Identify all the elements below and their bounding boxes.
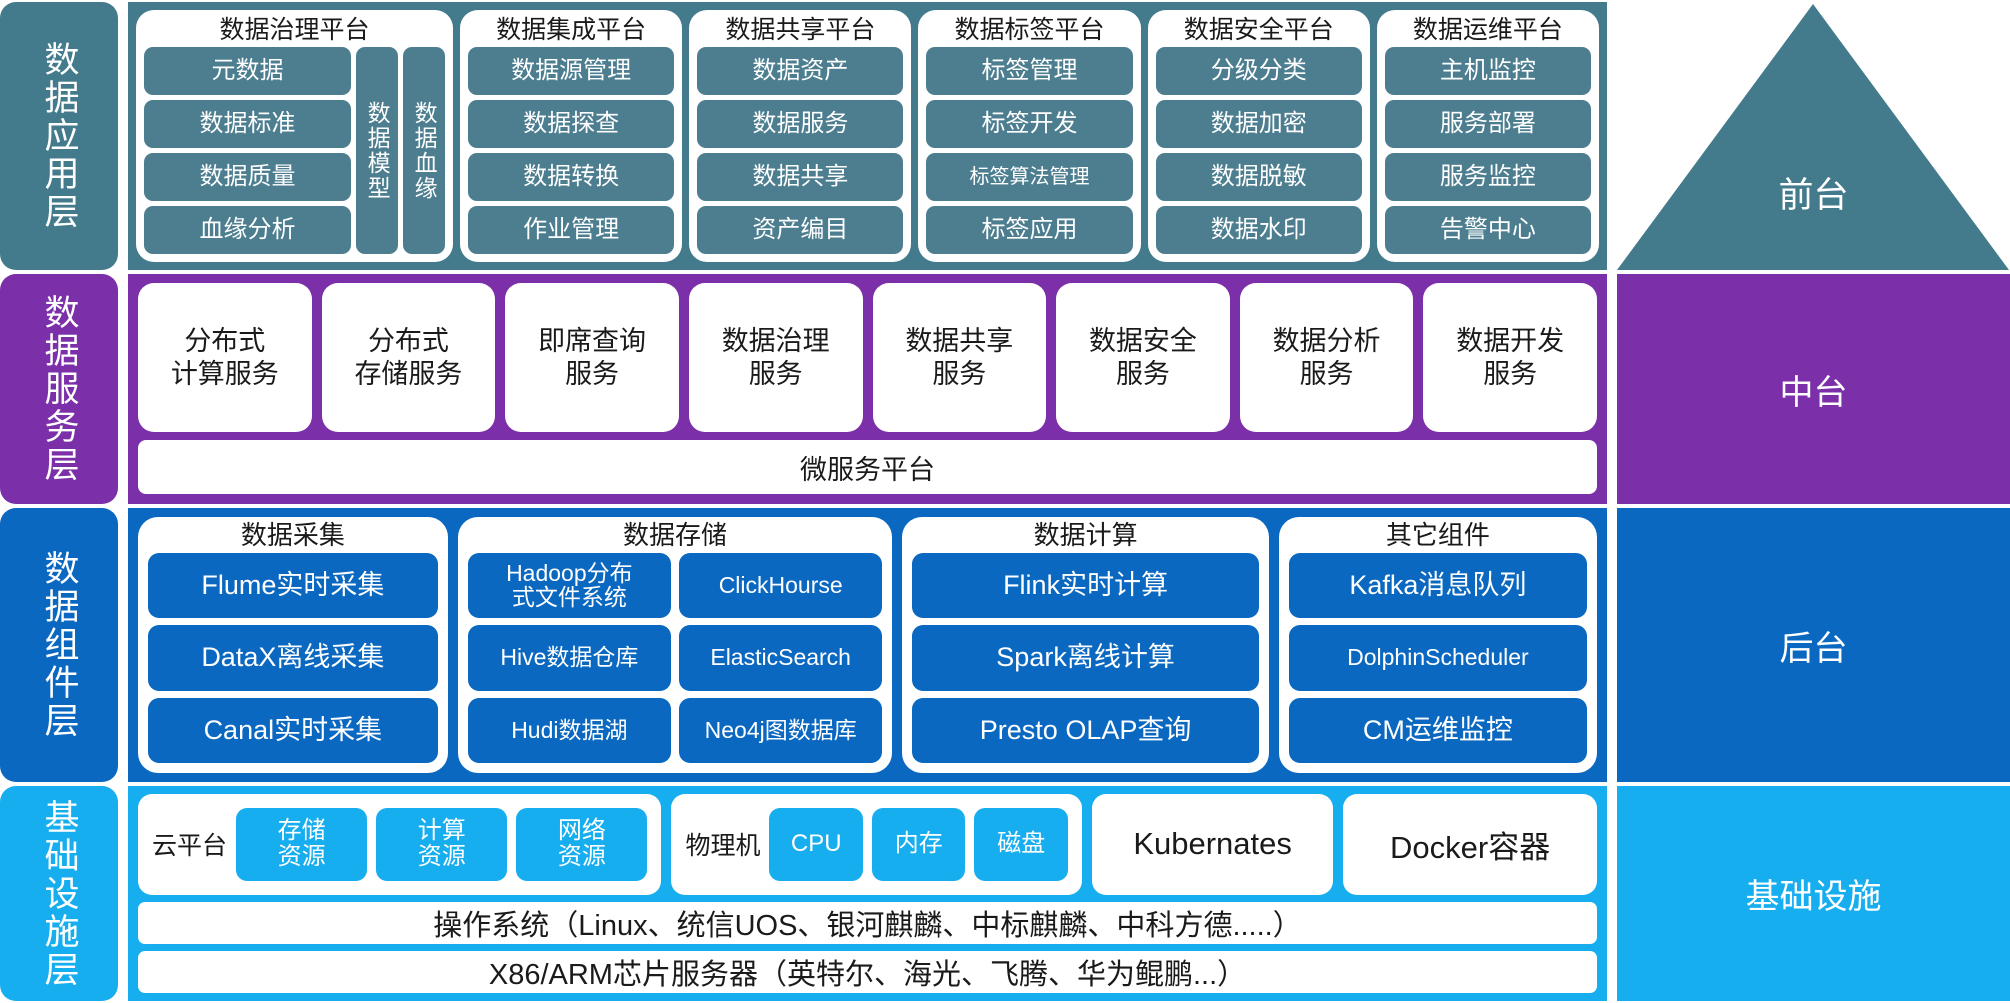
service-card[interactable]: 数据安全 服务 — [1056, 283, 1230, 432]
component-grid: Kafka消息队列 DolphinScheduler CM运维监控 — [1289, 553, 1587, 763]
component-item[interactable]: ElasticSearch — [679, 625, 882, 690]
platform-item[interactable]: 标签开发 — [926, 100, 1132, 148]
tier-label-back: 后台 — [1780, 621, 1848, 670]
physical-resource-cpu[interactable]: CPU — [769, 808, 863, 880]
component-item[interactable]: Flume实时采集 — [148, 553, 438, 618]
layer-label-data-component: 数据组件层 — [0, 508, 118, 782]
platform-column-main: 标签管理 标签开发 标签算法管理 标签应用 — [926, 47, 1132, 254]
tier-label-infrastructure: 基础设施 — [1746, 869, 1882, 918]
component-column: Flume实时采集 DataX离线采集 Canal实时采集 — [148, 553, 438, 763]
service-card[interactable]: 即席查询 服务 — [505, 283, 679, 432]
platform-item-vertical[interactable]: 数据模型 — [356, 47, 398, 254]
cloud-resource-compute[interactable]: 计算 资源 — [376, 808, 507, 880]
tier-back-stage: 后台 — [1617, 508, 2010, 782]
service-card[interactable]: 数据共享 服务 — [873, 283, 1047, 432]
platform-columns: 标签管理 标签开发 标签算法管理 标签应用 — [926, 47, 1132, 254]
component-item[interactable]: DolphinScheduler — [1289, 625, 1587, 690]
infrastructure-card-row: 云平台 存储 资源 计算 资源 网络 资源 物理机 CPU 内存 磁盘 Kube… — [138, 794, 1597, 895]
layer-label-data-service: 数据服务层 — [0, 274, 118, 504]
docker-label: Docker容器 — [1390, 822, 1550, 867]
service-card-row: 分布式 计算服务 分布式 存储服务 即席查询 服务 数据治理 服务 数据共享 服… — [138, 283, 1597, 432]
platform-item[interactable]: 数据质量 — [144, 153, 351, 201]
platform-item-vertical[interactable]: 数据血缘 — [403, 47, 445, 254]
platform-item[interactable]: 数据标准 — [144, 100, 351, 148]
cloud-resource-storage[interactable]: 存储 资源 — [236, 808, 367, 880]
platform-item[interactable]: 数据脱敏 — [1156, 153, 1362, 201]
component-item[interactable]: CM运维监控 — [1289, 698, 1587, 763]
platform-item[interactable]: 数据转换 — [468, 153, 674, 201]
platform-columns: 数据源管理 数据探查 数据转换 作业管理 — [468, 47, 674, 254]
platform-column-main: 元数据 数据标准 数据质量 血缘分析 — [144, 47, 351, 254]
microservice-platform-bar[interactable]: 微服务平台 — [138, 440, 1597, 494]
component-column: Flink实时计算 Spark离线计算 Presto OLAP查询 — [912, 553, 1258, 763]
physical-machine-label: 物理机 — [685, 826, 760, 862]
infra-card-kubernetes[interactable]: Kubernates — [1092, 794, 1333, 895]
platform-item[interactable]: 标签应用 — [926, 206, 1132, 254]
component-grid: Flink实时计算 Spark离线计算 Presto OLAP查询 — [912, 553, 1258, 763]
platform-item[interactable]: 作业管理 — [468, 206, 674, 254]
platform-item[interactable]: 数据水印 — [1156, 206, 1362, 254]
platform-item[interactable]: 服务监控 — [1385, 153, 1591, 201]
component-item[interactable]: Spark离线计算 — [912, 625, 1258, 690]
platform-card-data-security[interactable]: 数据安全平台 分级分类 数据加密 数据脱敏 数据水印 — [1148, 10, 1370, 262]
layer-infrastructure: 基础设施层 云平台 存储 资源 计算 资源 网络 资源 物理机 CPU 内存 磁… — [0, 786, 2010, 1001]
platform-title: 数据共享平台 — [697, 16, 903, 44]
layer-data-component: 数据组件层 数据采集 Flume实时采集 DataX离线采集 Canal实时采集… — [0, 508, 2010, 782]
platform-title: 数据治理平台 — [144, 16, 445, 44]
platform-item[interactable]: 数据加密 — [1156, 100, 1362, 148]
physical-resource-disk[interactable]: 磁盘 — [974, 808, 1068, 880]
component-grid: Flume实时采集 DataX离线采集 Canal实时采集 — [148, 553, 438, 763]
platform-title: 数据标签平台 — [926, 16, 1132, 44]
platform-item[interactable]: 资产编目 — [697, 206, 903, 254]
component-item[interactable]: Canal实时采集 — [148, 698, 438, 763]
tier-label-middle: 中台 — [1780, 365, 1848, 414]
platform-item[interactable]: 标签算法管理 — [926, 153, 1132, 201]
platform-card-data-governance[interactable]: 数据治理平台 元数据 数据标准 数据质量 血缘分析 数据模型 数据血缘 — [136, 10, 453, 262]
component-item[interactable]: Kafka消息队列 — [1289, 553, 1587, 618]
component-column: ClickHourse ElasticSearch Neo4j图数据库 — [679, 553, 882, 763]
platform-item[interactable]: 标签管理 — [926, 47, 1132, 95]
platform-column-vertical-1: 数据模型 — [356, 47, 398, 254]
platform-card-data-sharing[interactable]: 数据共享平台 数据资产 数据服务 数据共享 资产编目 — [689, 10, 911, 262]
platform-item[interactable]: 元数据 — [144, 47, 351, 95]
physical-resource-memory[interactable]: 内存 — [872, 808, 966, 880]
platform-columns: 元数据 数据标准 数据质量 血缘分析 数据模型 数据血缘 — [144, 47, 445, 254]
layer-label-data-application: 数据应用层 — [0, 2, 118, 270]
infra-card-physical-machine[interactable]: 物理机 CPU 内存 磁盘 — [671, 794, 1082, 895]
platform-column-main: 数据源管理 数据探查 数据转换 作业管理 — [468, 47, 674, 254]
component-item[interactable]: Hudi数据湖 — [468, 698, 671, 763]
component-group-data-compute[interactable]: 数据计算 Flink实时计算 Spark离线计算 Presto OLAP查询 — [902, 517, 1268, 773]
service-card[interactable]: 数据治理 服务 — [689, 283, 863, 432]
platform-column-main: 分级分类 数据加密 数据脱敏 数据水印 — [1156, 47, 1362, 254]
platform-item[interactable]: 数据资产 — [697, 47, 903, 95]
platform-item[interactable]: 主机监控 — [1385, 47, 1591, 95]
component-group-title: 其它组件 — [1289, 521, 1587, 550]
component-grid: Hadoop分布 式文件系统 Hive数据仓库 Hudi数据湖 ClickHou… — [468, 553, 883, 763]
infra-card-cloud-platform[interactable]: 云平台 存储 资源 计算 资源 网络 资源 — [138, 794, 661, 895]
platform-columns: 主机监控 服务部署 服务监控 告警中心 — [1385, 47, 1591, 254]
platform-column-main: 主机监控 服务部署 服务监控 告警中心 — [1385, 47, 1591, 254]
component-item[interactable]: Hadoop分布 式文件系统 — [468, 553, 671, 618]
platform-title: 数据运维平台 — [1385, 16, 1591, 44]
infra-card-docker[interactable]: Docker容器 — [1343, 794, 1597, 895]
kubernetes-label: Kubernates — [1133, 826, 1292, 862]
pyramid-shape-icon — [1617, 4, 2009, 270]
layer-body-data-component: 数据采集 Flume实时采集 DataX离线采集 Canal实时采集 数据存储 … — [128, 508, 1607, 782]
platform-item[interactable]: 数据共享 — [697, 153, 903, 201]
platform-item[interactable]: 数据探查 — [468, 100, 674, 148]
component-group-title: 数据计算 — [912, 521, 1258, 550]
layer-body-infrastructure: 云平台 存储 资源 计算 资源 网络 资源 物理机 CPU 内存 磁盘 Kube… — [128, 786, 1607, 1001]
tier-label-front: 前台 — [1617, 167, 2010, 218]
service-card[interactable]: 数据开发 服务 — [1423, 283, 1597, 432]
chip-server-bar[interactable]: X86/ARM芯片服务器（英特尔、海光、飞腾、华为鲲鹏...） — [138, 951, 1597, 993]
operating-system-bar[interactable]: 操作系统（Linux、统信UOS、银河麒麟、中标麒麟、中科方德.....） — [138, 902, 1597, 944]
layer-data-application: 数据应用层 数据治理平台 元数据 数据标准 数据质量 血缘分析 数据模型 — [0, 2, 2010, 270]
platform-card-data-tagging[interactable]: 数据标签平台 标签管理 标签开发 标签算法管理 标签应用 — [918, 10, 1140, 262]
platform-item[interactable]: 分级分类 — [1156, 47, 1362, 95]
layer-body-data-service: 分布式 计算服务 分布式 存储服务 即席查询 服务 数据治理 服务 数据共享 服… — [128, 274, 1607, 504]
architecture-diagram: 数据应用层 数据治理平台 元数据 数据标准 数据质量 血缘分析 数据模型 — [0, 0, 2010, 1003]
platform-card-data-integration[interactable]: 数据集成平台 数据源管理 数据探查 数据转换 作业管理 — [460, 10, 682, 262]
platform-item[interactable]: 数据源管理 — [468, 47, 674, 95]
cloud-platform-label: 云平台 — [152, 826, 227, 862]
platform-title: 数据安全平台 — [1156, 16, 1362, 44]
service-card[interactable]: 分布式 存储服务 — [322, 283, 496, 432]
service-card[interactable]: 数据分析 服务 — [1240, 283, 1414, 432]
component-column: Kafka消息队列 DolphinScheduler CM运维监控 — [1289, 553, 1587, 763]
platform-card-data-operations[interactable]: 数据运维平台 主机监控 服务部署 服务监控 告警中心 — [1377, 10, 1599, 262]
platform-title: 数据集成平台 — [468, 16, 674, 44]
component-group-title: 数据存储 — [468, 521, 883, 550]
component-column: Hadoop分布 式文件系统 Hive数据仓库 Hudi数据湖 — [468, 553, 671, 763]
platform-columns: 分级分类 数据加密 数据脱敏 数据水印 — [1156, 47, 1362, 254]
layer-data-service: 数据服务层 分布式 计算服务 分布式 存储服务 即席查询 服务 数据治理 服务 … — [0, 274, 2010, 504]
component-item[interactable]: Presto OLAP查询 — [912, 698, 1258, 763]
platform-column-vertical-2: 数据血缘 — [403, 47, 445, 254]
platform-item[interactable]: 告警中心 — [1385, 206, 1591, 254]
component-item[interactable]: ClickHourse — [679, 553, 882, 618]
component-group-other[interactable]: 其它组件 Kafka消息队列 DolphinScheduler CM运维监控 — [1279, 517, 1597, 773]
layer-label-infrastructure: 基础设施层 — [0, 786, 118, 1001]
tier-middle-stage: 中台 — [1617, 274, 2010, 504]
component-item[interactable]: Flink实时计算 — [912, 553, 1258, 618]
platform-item[interactable]: 血缘分析 — [144, 206, 351, 254]
platform-item[interactable]: 服务部署 — [1385, 100, 1591, 148]
component-group-title: 数据采集 — [148, 521, 438, 550]
platform-columns: 数据资产 数据服务 数据共享 资产编目 — [697, 47, 903, 254]
component-item[interactable]: DataX离线采集 — [148, 625, 438, 690]
platform-item[interactable]: 数据服务 — [697, 100, 903, 148]
component-item[interactable]: Neo4j图数据库 — [679, 698, 882, 763]
tier-front-stage: 前台 — [1617, 2, 2010, 270]
cloud-resource-network[interactable]: 网络 资源 — [516, 808, 647, 880]
component-group-data-collection[interactable]: 数据采集 Flume实时采集 DataX离线采集 Canal实时采集 — [138, 517, 448, 773]
component-item[interactable]: Hive数据仓库 — [468, 625, 671, 690]
component-group-data-storage[interactable]: 数据存储 Hadoop分布 式文件系统 Hive数据仓库 Hudi数据湖 Cli… — [458, 517, 893, 773]
service-card[interactable]: 分布式 计算服务 — [138, 283, 312, 432]
tier-infrastructure: 基础设施 — [1617, 786, 2010, 1001]
layer-body-data-application: 数据治理平台 元数据 数据标准 数据质量 血缘分析 数据模型 数据血缘 — [128, 2, 1607, 270]
platform-column-main: 数据资产 数据服务 数据共享 资产编目 — [697, 47, 903, 254]
